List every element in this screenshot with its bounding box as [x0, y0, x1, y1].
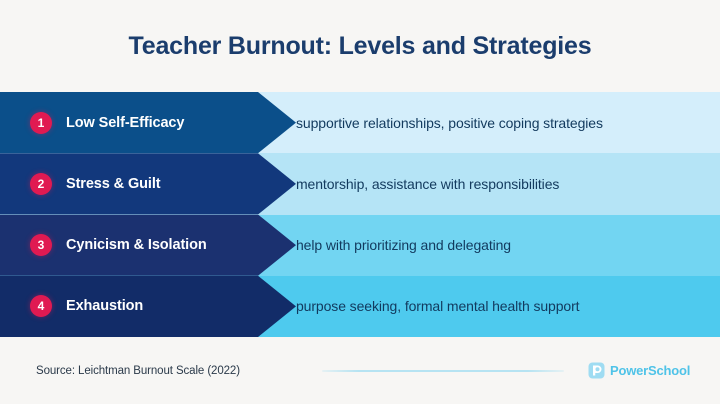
brand-name: PowerSchool: [610, 363, 690, 378]
strategy-label: mentorship, assistance with responsibili…: [296, 176, 559, 192]
row-strategy-panel-4: purpose seeking, formal mental health su…: [296, 276, 720, 337]
source-citation: Source: Leichtman Burnout Scale (2022): [36, 365, 240, 377]
powerschool-p-mark-icon: [588, 362, 605, 379]
level-number-badge: 4: [30, 295, 52, 317]
row-strategy-panel-1: supportive relationships, positive copin…: [296, 92, 720, 153]
row-strategy-panel-3: help with prioritizing and delegating: [296, 215, 720, 276]
page-title: Teacher Burnout: Levels and Strategies: [129, 32, 592, 61]
row-level-panel-3: 3 Cynicism & Isolation: [0, 215, 296, 276]
list-item[interactable]: 1 Low Self-Efficacy supportive relations…: [0, 92, 720, 153]
row-strategy-panel-2: mentorship, assistance with responsibili…: [296, 153, 720, 214]
level-number-badge: 1: [30, 112, 52, 134]
title-area: Teacher Burnout: Levels and Strategies: [0, 0, 720, 92]
row-level-panel-2: 2 Stress & Guilt: [0, 153, 296, 214]
level-label: Low Self-Efficacy: [66, 115, 184, 131]
row-level-panel-1: 1 Low Self-Efficacy: [0, 92, 296, 153]
level-label: Cynicism & Isolation: [66, 237, 207, 253]
footer-divider: [322, 370, 564, 372]
footer: Source: Leichtman Burnout Scale (2022) P…: [0, 337, 720, 404]
row-level-panel-4: 4 Exhaustion: [0, 276, 296, 337]
list-item[interactable]: 4 Exhaustion purpose seeking, formal men…: [0, 276, 720, 337]
level-label: Stress & Guilt: [66, 176, 161, 192]
level-label: Exhaustion: [66, 298, 143, 314]
levels-list: 1 Low Self-Efficacy supportive relations…: [0, 92, 720, 337]
brand-logo: PowerSchool: [588, 362, 690, 379]
level-number-badge: 2: [30, 173, 52, 195]
list-item[interactable]: 2 Stress & Guilt mentorship, assistance …: [0, 153, 720, 214]
infographic-poster: Teacher Burnout: Levels and Strategies 1…: [0, 0, 720, 404]
level-number-badge: 3: [30, 234, 52, 256]
list-item[interactable]: 3 Cynicism & Isolation help with priorit…: [0, 215, 720, 276]
strategy-label: help with prioritizing and delegating: [296, 237, 511, 253]
strategy-label: purpose seeking, formal mental health su…: [296, 298, 579, 314]
strategy-label: supportive relationships, positive copin…: [296, 115, 603, 131]
